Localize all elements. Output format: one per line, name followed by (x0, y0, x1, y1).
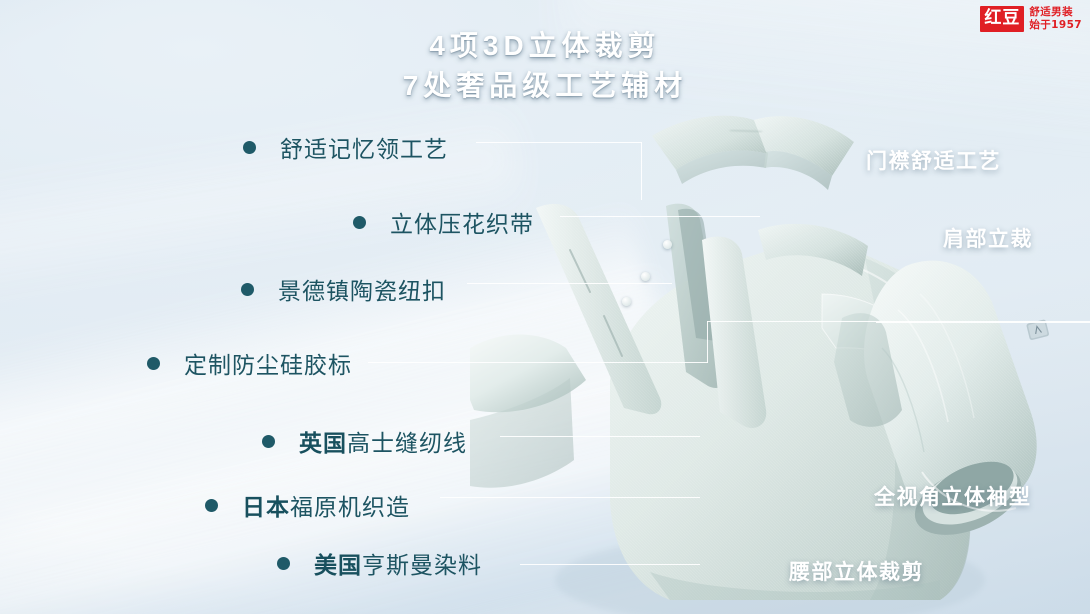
feature-item-5[interactable]: 英国高士缝纫线 (262, 424, 467, 458)
right-label-2[interactable]: 肩部立裁 (943, 223, 1033, 253)
feature-item-3[interactable]: 景德镇陶瓷纽扣 (241, 272, 446, 306)
page-title: 4项3D立体裁剪 7处奢品级工艺辅材 (0, 26, 1090, 106)
bullet-dot-icon (147, 357, 160, 370)
brand-logo-mark: 红豆 (980, 6, 1024, 32)
feature-label-6: 日本福原机织造 (242, 488, 410, 522)
bullet-dot-icon (241, 283, 254, 296)
bullet-dot-icon (205, 499, 218, 512)
feature-label-6-country: 日本 (242, 494, 290, 520)
feature-label-5-country: 英国 (299, 430, 347, 456)
feature-label-5: 英国高士缝纫线 (299, 424, 467, 458)
slide-canvas: 舒适记忆领工艺 立体压花织带 景德镇陶瓷纽扣 定制防尘硅胶标 英国高士缝纫线 日… (0, 0, 1090, 614)
brand-logo-text: 舒适男装 始于1957 (1029, 7, 1082, 31)
feature-label-2: 立体压花织带 (390, 205, 534, 239)
feature-label-7-rest: 亨斯曼染料 (362, 552, 482, 578)
button-bead-1 (663, 240, 672, 249)
feature-label-1: 舒适记忆领工艺 (280, 130, 448, 164)
button-bead-3 (622, 297, 631, 306)
headline-line-2: 7处奢品级工艺辅材 (0, 66, 1090, 106)
feature-label-5-rest: 高士缝纫线 (347, 430, 467, 456)
feature-label-6-rest: 福原机织造 (290, 494, 410, 520)
feature-item-2[interactable]: 立体压花织带 (353, 205, 534, 239)
right-label-3[interactable]: 全视角立体袖型 (874, 481, 1032, 511)
button-bead-2 (641, 272, 650, 281)
brand-logo[interactable]: 红豆 舒适男装 始于1957 (980, 6, 1082, 32)
feature-item-6[interactable]: 日本福原机织造 (205, 488, 410, 522)
brand-tagline: 舒适男装 (1029, 7, 1082, 18)
feature-item-1[interactable]: 舒适记忆领工艺 (243, 130, 448, 164)
headline-line-1: 4项3D立体裁剪 (0, 26, 1090, 66)
right-label-1[interactable]: 门襟舒适工艺 (866, 145, 1001, 175)
feature-item-7[interactable]: 美国亨斯曼染料 (277, 546, 482, 580)
feature-label-7-country: 美国 (314, 552, 362, 578)
bullet-dot-icon (243, 141, 256, 154)
bullet-dot-icon (262, 435, 275, 448)
bullet-dot-icon (353, 216, 366, 229)
bullet-dot-icon (277, 557, 290, 570)
feature-label-4: 定制防尘硅胶标 (184, 346, 352, 380)
feature-label-7: 美国亨斯曼染料 (314, 546, 482, 580)
feature-label-3: 景德镇陶瓷纽扣 (278, 272, 446, 306)
brand-founded: 始于1957 (1029, 20, 1082, 31)
feature-item-4[interactable]: 定制防尘硅胶标 (147, 346, 352, 380)
right-label-4[interactable]: 腰部立体裁剪 (789, 556, 924, 586)
